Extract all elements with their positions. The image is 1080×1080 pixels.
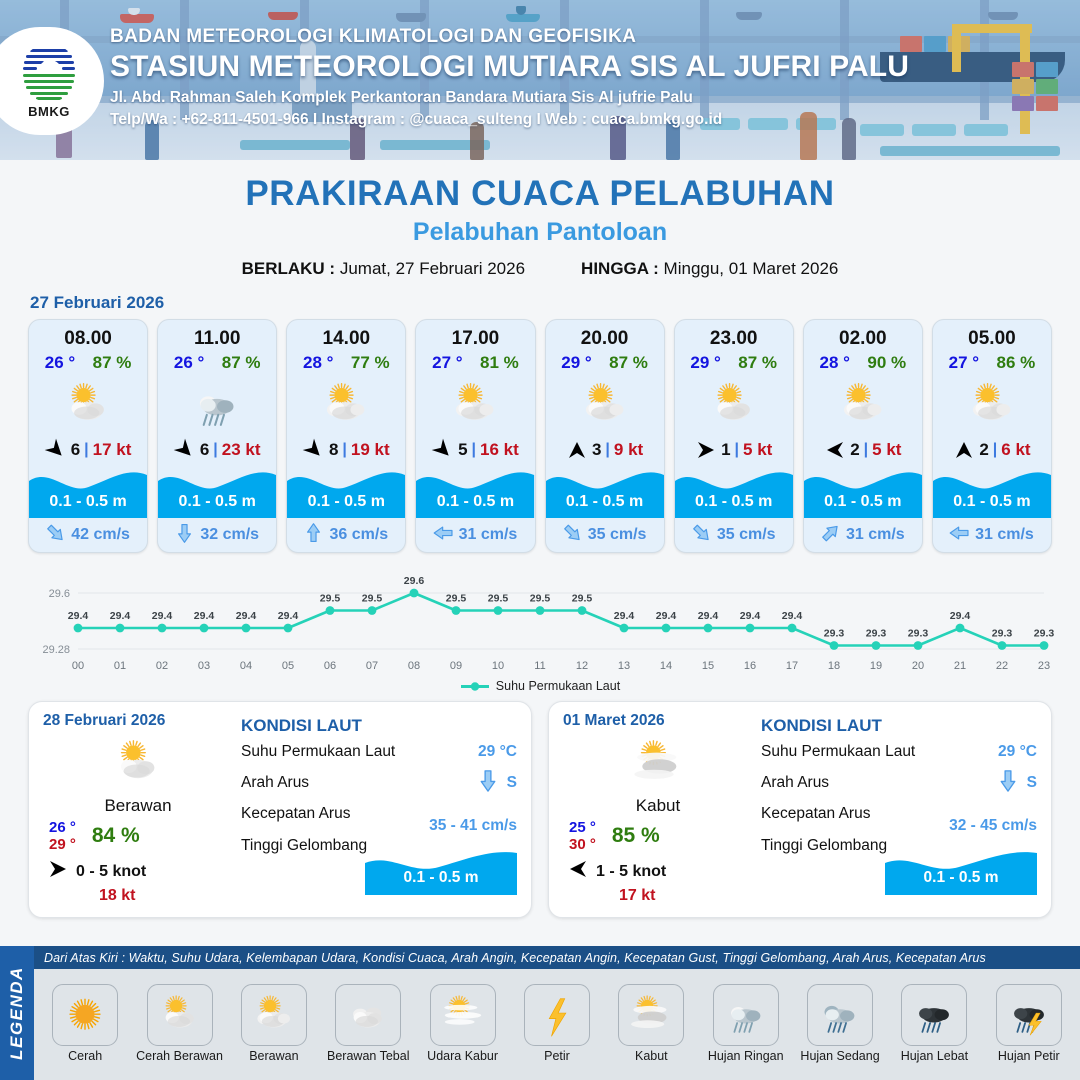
wave-height: 0.1 - 0.5 m xyxy=(158,493,276,511)
svg-text:29.5: 29.5 xyxy=(572,593,593,605)
svg-text:16: 16 xyxy=(744,660,756,672)
wave-height: 0.1 - 0.5 m xyxy=(416,493,534,511)
legend-side-label: LEGENDA xyxy=(7,966,27,1060)
hourly-forecast-cards: 08.00 26 ° 87 % 6 | 17 kt 0.1 - 0.5 m 42… xyxy=(0,319,1080,553)
svg-text:01: 01 xyxy=(114,660,126,672)
svg-text:13: 13 xyxy=(618,660,630,672)
wave-height-label: Tinggi Gelombang xyxy=(761,837,887,855)
legend-section: LEGENDA Dari Atas Kiri : Waktu, Suhu Uda… xyxy=(0,946,1080,1080)
wave-band: 0.1 - 0.5 m xyxy=(416,465,534,518)
hujan-petir-icon xyxy=(996,984,1062,1046)
legend-item: Cerah Berawan xyxy=(133,984,227,1063)
wave-band: 0.1 - 0.5 m xyxy=(675,465,793,518)
card-humidity: 77 % xyxy=(351,353,390,373)
panel-wind-direction-icon xyxy=(567,859,589,884)
panel-wind-direction-icon xyxy=(47,859,69,884)
svg-text:29.4: 29.4 xyxy=(194,610,215,622)
svg-text:29.4: 29.4 xyxy=(614,610,635,622)
card-humidity: 86 % xyxy=(997,353,1036,373)
legend-item-label: Berawan xyxy=(249,1049,298,1063)
panel-wave-value: 0.1 - 0.5 m xyxy=(365,869,517,887)
wind-speed: 2 xyxy=(850,440,859,460)
hingga-label: HINGGA : xyxy=(581,259,659,278)
panel-temp-max: 30 ° xyxy=(569,836,596,853)
panel-current-direction-icon xyxy=(477,768,499,798)
svg-text:29.5: 29.5 xyxy=(530,593,551,605)
svg-text:06: 06 xyxy=(324,660,336,672)
wave-band: 0.1 - 0.5 m xyxy=(287,465,405,518)
current-speed: 31 cm/s xyxy=(459,526,518,544)
card-time: 08.00 xyxy=(29,320,147,350)
svg-text:29.4: 29.4 xyxy=(698,610,719,622)
panel-wave-value: 0.1 - 0.5 m xyxy=(885,869,1037,887)
legend-item: Udara Kabur xyxy=(416,984,510,1063)
legend-item-label: Petir xyxy=(544,1049,570,1063)
svg-text:29.5: 29.5 xyxy=(488,593,509,605)
legend-note: Dari Atas Kiri : Waktu, Suhu Udara, Kele… xyxy=(34,946,1080,969)
svg-text:02: 02 xyxy=(156,660,168,672)
current-speed: 32 cm/s xyxy=(200,526,259,544)
wave-height: 0.1 - 0.5 m xyxy=(675,493,793,511)
gust-speed: 9 kt xyxy=(614,440,643,460)
svg-text:29.4: 29.4 xyxy=(656,610,677,622)
card-temperature: 28 ° xyxy=(819,353,849,373)
svg-text:29.3: 29.3 xyxy=(992,628,1013,640)
gust-speed: 6 kt xyxy=(1001,440,1030,460)
svg-text:29.3: 29.3 xyxy=(908,628,929,640)
card-temperature: 29 ° xyxy=(690,353,720,373)
wind-direction-icon xyxy=(695,441,717,459)
divider: | xyxy=(213,441,217,459)
sst-value: 29 °C xyxy=(998,743,1037,761)
legend-item: Hujan Sedang xyxy=(793,984,887,1063)
panel-condition: Berawan xyxy=(43,796,233,816)
panel-temp-min: 26 ° xyxy=(49,819,76,836)
legend-item-label: Hujan Lebat xyxy=(901,1049,968,1063)
card-time: 20.00 xyxy=(546,320,664,350)
legend-items: Cerah Cerah Berawan Berawan Berawan Teba… xyxy=(34,969,1080,1080)
current-direction-icon xyxy=(692,522,711,549)
wind-direction-icon xyxy=(45,441,67,459)
wind-speed: 6 xyxy=(71,440,80,460)
panel-gust: 17 kt xyxy=(563,887,753,905)
svg-text:12: 12 xyxy=(576,660,588,672)
sst-label: Suhu Permukaan Laut xyxy=(241,743,395,761)
current-speed: 35 cm/s xyxy=(588,526,647,544)
card-time: 05.00 xyxy=(933,320,1051,350)
svg-text:03: 03 xyxy=(198,660,210,672)
svg-text:29.4: 29.4 xyxy=(68,610,89,622)
svg-text:29.4: 29.4 xyxy=(278,610,299,622)
svg-text:29.4: 29.4 xyxy=(152,610,173,622)
bmkg-logo-text: BMKG xyxy=(28,104,70,119)
legend-item: Hujan Ringan xyxy=(699,984,793,1063)
daily-forecast-panel: 28 Februari 2026 Berawan 26 ° 29 ° 84 % … xyxy=(28,701,532,918)
svg-text:29.4: 29.4 xyxy=(950,610,971,622)
svg-text:11: 11 xyxy=(534,660,545,672)
title-block: PRAKIRAAN CUACA PELABUHAN Pelabuhan Pant… xyxy=(0,160,1080,279)
berawan-icon xyxy=(546,375,664,435)
berawan-icon xyxy=(287,375,405,435)
wave-band: 0.1 - 0.5 m xyxy=(29,465,147,518)
berawan-icon xyxy=(416,375,534,435)
wind-direction-icon xyxy=(303,441,325,459)
wave-band: 0.1 - 0.5 m xyxy=(546,465,664,518)
divider: | xyxy=(605,441,609,459)
svg-text:20: 20 xyxy=(912,660,924,672)
sst-value: 29 °C xyxy=(478,743,517,761)
chart-legend-marker xyxy=(460,681,490,692)
svg-text:29.4: 29.4 xyxy=(110,610,131,622)
wind-direction-icon xyxy=(566,441,588,459)
panel-current-direction-icon xyxy=(997,768,1019,798)
panel-wind-range: 1 - 5 knot xyxy=(596,863,666,881)
daily-forecast-panel: 01 Maret 2026 Kabut 25 ° 30 ° 85 % 1 - 5… xyxy=(548,701,1052,918)
legend-item: Berawan xyxy=(227,984,321,1063)
petir-icon xyxy=(524,984,590,1046)
legend-item-label: Hujan Petir xyxy=(998,1049,1060,1063)
card-temperature: 27 ° xyxy=(949,353,979,373)
svg-text:17: 17 xyxy=(786,660,798,672)
wave-band: 0.1 - 0.5 m xyxy=(804,465,922,518)
card-time: 14.00 xyxy=(287,320,405,350)
gust-speed: 5 kt xyxy=(872,440,901,460)
card-humidity: 87 % xyxy=(609,353,648,373)
wind-direction-icon xyxy=(432,441,454,459)
card-temperature: 28 ° xyxy=(303,353,333,373)
card-time: 11.00 xyxy=(158,320,276,350)
hourly-card: 17.00 27 ° 81 % 5 | 16 kt 0.1 - 0.5 m xyxy=(415,319,535,553)
svg-text:29.3: 29.3 xyxy=(824,628,845,640)
legend-item-label: Berawan Tebal xyxy=(327,1049,409,1063)
card-temperature: 26 ° xyxy=(174,353,204,373)
daily-forecast-panels: 28 Februari 2026 Berawan 26 ° 29 ° 84 % … xyxy=(0,693,1080,918)
wind-direction-icon xyxy=(824,441,846,459)
svg-text:05: 05 xyxy=(282,660,294,672)
legend-item: Petir xyxy=(510,984,604,1063)
svg-text:15: 15 xyxy=(702,660,714,672)
wind-direction-icon xyxy=(953,441,975,459)
card-humidity: 87 % xyxy=(93,353,132,373)
validity-row: BERLAKU : Jumat, 27 Februari 2026 HINGGA… xyxy=(0,259,1080,279)
current-direction-value: S xyxy=(507,774,517,792)
panel-date: 28 Februari 2026 xyxy=(43,712,233,730)
berlaku-label: BERLAKU : xyxy=(242,259,336,278)
current-speed: 31 cm/s xyxy=(846,526,905,544)
current-direction-icon xyxy=(46,522,65,549)
divider: | xyxy=(864,441,868,459)
wave-height: 0.1 - 0.5 m xyxy=(287,493,405,511)
gust-speed: 19 kt xyxy=(351,440,390,460)
legend-item: Berawan Tebal xyxy=(321,984,415,1063)
station-contact: Telp/Wa : +62-811-4501-966 I Instagram :… xyxy=(110,111,909,129)
svg-text:07: 07 xyxy=(366,660,378,672)
legend-item: Hujan Petir xyxy=(982,984,1076,1063)
hujan-sedang-icon xyxy=(807,984,873,1046)
svg-text:19: 19 xyxy=(870,660,882,672)
card-temperature: 29 ° xyxy=(561,353,591,373)
wind-speed: 3 xyxy=(592,440,601,460)
panel-condition: Kabut xyxy=(563,796,753,816)
hingga-value: Minggu, 01 Maret 2026 xyxy=(664,259,839,278)
legend-side-bar: LEGENDA xyxy=(0,946,34,1080)
wave-height: 0.1 - 0.5 m xyxy=(546,493,664,511)
svg-text:29.3: 29.3 xyxy=(866,628,887,640)
current-speed-label: Kecepatan Arus xyxy=(241,805,350,823)
panel-humidity: 84 % xyxy=(92,824,140,848)
card-humidity: 90 % xyxy=(867,353,906,373)
wave-band: 0.1 - 0.5 m xyxy=(158,465,276,518)
cerah-icon xyxy=(52,984,118,1046)
svg-text:04: 04 xyxy=(240,660,252,672)
bmkg-logo-mark xyxy=(20,44,78,102)
current-direction-icon xyxy=(950,522,969,549)
legend-item-label: Hujan Sedang xyxy=(800,1049,879,1063)
kabut-icon xyxy=(563,732,753,794)
cerah-berawan-icon xyxy=(147,984,213,1046)
panel-gust: 18 kt xyxy=(43,887,233,905)
hourly-card: 23.00 29 ° 87 % 1 | 5 kt 0.1 - 0.5 m 35 … xyxy=(674,319,794,553)
hourly-date-label: 27 Februari 2026 xyxy=(30,293,1080,313)
svg-text:08: 08 xyxy=(408,660,420,672)
current-direction-icon xyxy=(304,522,323,549)
card-temperature: 27 ° xyxy=(432,353,462,373)
current-speed-value: 32 - 45 cm/s xyxy=(949,817,1037,835)
card-time: 17.00 xyxy=(416,320,534,350)
current-direction-label: Arah Arus xyxy=(761,774,829,792)
hourly-card: 14.00 28 ° 77 % 8 | 19 kt 0.1 - 0.5 m xyxy=(286,319,406,553)
divider: | xyxy=(472,441,476,459)
chart-legend: Suhu Permukaan Laut xyxy=(0,679,1080,693)
svg-text:29.5: 29.5 xyxy=(320,593,341,605)
page-subtitle: Pelabuhan Pantoloan xyxy=(0,218,1080,247)
card-humidity: 87 % xyxy=(222,353,261,373)
current-speed-label: Kecepatan Arus xyxy=(761,805,870,823)
svg-text:29.4: 29.4 xyxy=(740,610,761,622)
bmkg-logo: BMKG xyxy=(0,27,104,135)
current-direction-icon xyxy=(434,522,453,549)
page-title: PRAKIRAAN CUACA PELABUHAN xyxy=(0,174,1080,214)
current-direction-label: Arah Arus xyxy=(241,774,309,792)
gust-speed: 5 kt xyxy=(743,440,772,460)
hourly-card: 05.00 27 ° 86 % 2 | 6 kt 0.1 - 0.5 m xyxy=(932,319,1052,553)
current-direction-value: S xyxy=(1027,774,1037,792)
svg-text:29.5: 29.5 xyxy=(446,593,467,605)
wave-height: 0.1 - 0.5 m xyxy=(933,493,1051,511)
current-speed-value: 35 - 41 cm/s xyxy=(429,817,517,835)
card-time: 23.00 xyxy=(675,320,793,350)
legend-item-label: Hujan Ringan xyxy=(708,1049,784,1063)
panel-temp-min: 25 ° xyxy=(569,819,596,836)
wind-speed: 1 xyxy=(721,440,730,460)
berlaku-value: Jumat, 27 Februari 2026 xyxy=(340,259,525,278)
berawan-tebal-icon xyxy=(335,984,401,1046)
wave-band: 0.1 - 0.5 m xyxy=(933,465,1051,518)
hujan-ringan-icon xyxy=(713,984,779,1046)
wind-speed: 5 xyxy=(458,440,467,460)
svg-text:29.4: 29.4 xyxy=(782,610,803,622)
current-speed: 35 cm/s xyxy=(717,526,776,544)
wind-speed: 2 xyxy=(979,440,988,460)
divider: | xyxy=(993,441,997,459)
legend-item-label: Kabut xyxy=(635,1049,668,1063)
berawan-icon xyxy=(933,375,1051,435)
svg-text:14: 14 xyxy=(660,660,672,672)
kabut-icon xyxy=(618,984,684,1046)
hingga-group: HINGGA : Minggu, 01 Maret 2026 xyxy=(581,259,838,279)
svg-text:29.28: 29.28 xyxy=(42,644,70,656)
cerah-berawan-icon xyxy=(43,732,233,794)
divider: | xyxy=(84,441,88,459)
hujan-lebat-icon xyxy=(901,984,967,1046)
berawan-icon xyxy=(241,984,307,1046)
berawan-icon xyxy=(804,375,922,435)
station-name: STASIUN METEOROLOGI MUTIARA SIS AL JUFRI… xyxy=(110,50,909,84)
hujan-ringan-icon xyxy=(158,375,276,435)
divider: | xyxy=(342,441,346,459)
svg-text:18: 18 xyxy=(828,660,840,672)
sst-chart-svg: 29.629.2829.40029.40129.40229.40329.4042… xyxy=(26,567,1054,677)
current-speed: 31 cm/s xyxy=(975,526,1034,544)
panel-date: 01 Maret 2026 xyxy=(563,712,753,730)
svg-text:09: 09 xyxy=(450,660,462,672)
current-speed: 42 cm/s xyxy=(71,526,130,544)
agency-name: BADAN METEOROLOGI KLIMATOLOGI DAN GEOFIS… xyxy=(110,26,909,48)
card-humidity: 81 % xyxy=(480,353,519,373)
card-temperature: 26 ° xyxy=(45,353,75,373)
cerah-berawan-icon xyxy=(675,375,793,435)
divider: | xyxy=(735,441,739,459)
station-address: Jl. Abd. Rahman Saleh Komplek Perkantora… xyxy=(110,89,909,107)
sea-conditions-title: KONDISI LAUT xyxy=(241,716,517,736)
page-header: BMKG BADAN METEOROLOGI KLIMATOLOGI DAN G… xyxy=(0,0,1080,160)
sea-conditions-title: KONDISI LAUT xyxy=(761,716,1037,736)
hourly-card: 11.00 26 ° 87 % 6 | 23 kt 0.1 - 0.5 m 32… xyxy=(157,319,277,553)
wave-height: 0.1 - 0.5 m xyxy=(29,493,147,511)
svg-text:21: 21 xyxy=(954,660,966,672)
svg-text:29.4: 29.4 xyxy=(236,610,257,622)
current-speed: 36 cm/s xyxy=(329,526,388,544)
hourly-card: 20.00 29 ° 87 % 3 | 9 kt 0.1 - 0.5 m xyxy=(545,319,665,553)
wind-speed: 8 xyxy=(329,440,338,460)
panel-wind-range: 0 - 5 knot xyxy=(76,863,146,881)
current-direction-icon xyxy=(821,522,840,549)
current-direction-icon xyxy=(175,522,194,549)
legend-item-label: Udara Kabur xyxy=(427,1049,498,1063)
gust-speed: 17 kt xyxy=(93,440,132,460)
wave-height-label: Tinggi Gelombang xyxy=(241,837,367,855)
sst-label: Suhu Permukaan Laut xyxy=(761,743,915,761)
wind-speed: 6 xyxy=(200,440,209,460)
panel-humidity: 85 % xyxy=(612,824,660,848)
legend-item-label: Cerah xyxy=(68,1049,102,1063)
svg-text:23: 23 xyxy=(1038,660,1050,672)
svg-text:00: 00 xyxy=(72,660,84,672)
wind-direction-icon xyxy=(174,441,196,459)
svg-text:29.6: 29.6 xyxy=(404,575,425,587)
panel-wave-band: 0.1 - 0.5 m xyxy=(365,849,517,895)
gust-speed: 23 kt xyxy=(222,440,261,460)
svg-text:29.3: 29.3 xyxy=(1034,628,1054,640)
legend-item: Cerah xyxy=(38,984,132,1063)
wave-height: 0.1 - 0.5 m xyxy=(804,493,922,511)
panel-temp-max: 29 ° xyxy=(49,836,76,853)
svg-text:29.5: 29.5 xyxy=(362,593,383,605)
chart-legend-label: Suhu Permukaan Laut xyxy=(496,679,620,693)
svg-text:22: 22 xyxy=(996,660,1008,672)
legend-item: Kabut xyxy=(604,984,698,1063)
berlaku-group: BERLAKU : Jumat, 27 Februari 2026 xyxy=(242,259,525,279)
panel-wave-band: 0.1 - 0.5 m xyxy=(885,849,1037,895)
hourly-card: 02.00 28 ° 90 % 2 | 5 kt 0.1 - 0.5 m xyxy=(803,319,923,553)
hourly-card: 08.00 26 ° 87 % 6 | 17 kt 0.1 - 0.5 m 42… xyxy=(28,319,148,553)
current-direction-icon xyxy=(563,522,582,549)
legend-item: Hujan Lebat xyxy=(887,984,981,1063)
svg-text:10: 10 xyxy=(492,660,504,672)
udara-kabur-icon xyxy=(430,984,496,1046)
svg-text:29.6: 29.6 xyxy=(49,588,70,600)
sst-chart: 29.629.2829.40029.40129.40229.40329.4042… xyxy=(26,567,1054,677)
cerah-berawan-icon xyxy=(29,375,147,435)
gust-speed: 16 kt xyxy=(480,440,519,460)
legend-item-label: Cerah Berawan xyxy=(136,1049,223,1063)
card-humidity: 87 % xyxy=(738,353,777,373)
card-time: 02.00 xyxy=(804,320,922,350)
